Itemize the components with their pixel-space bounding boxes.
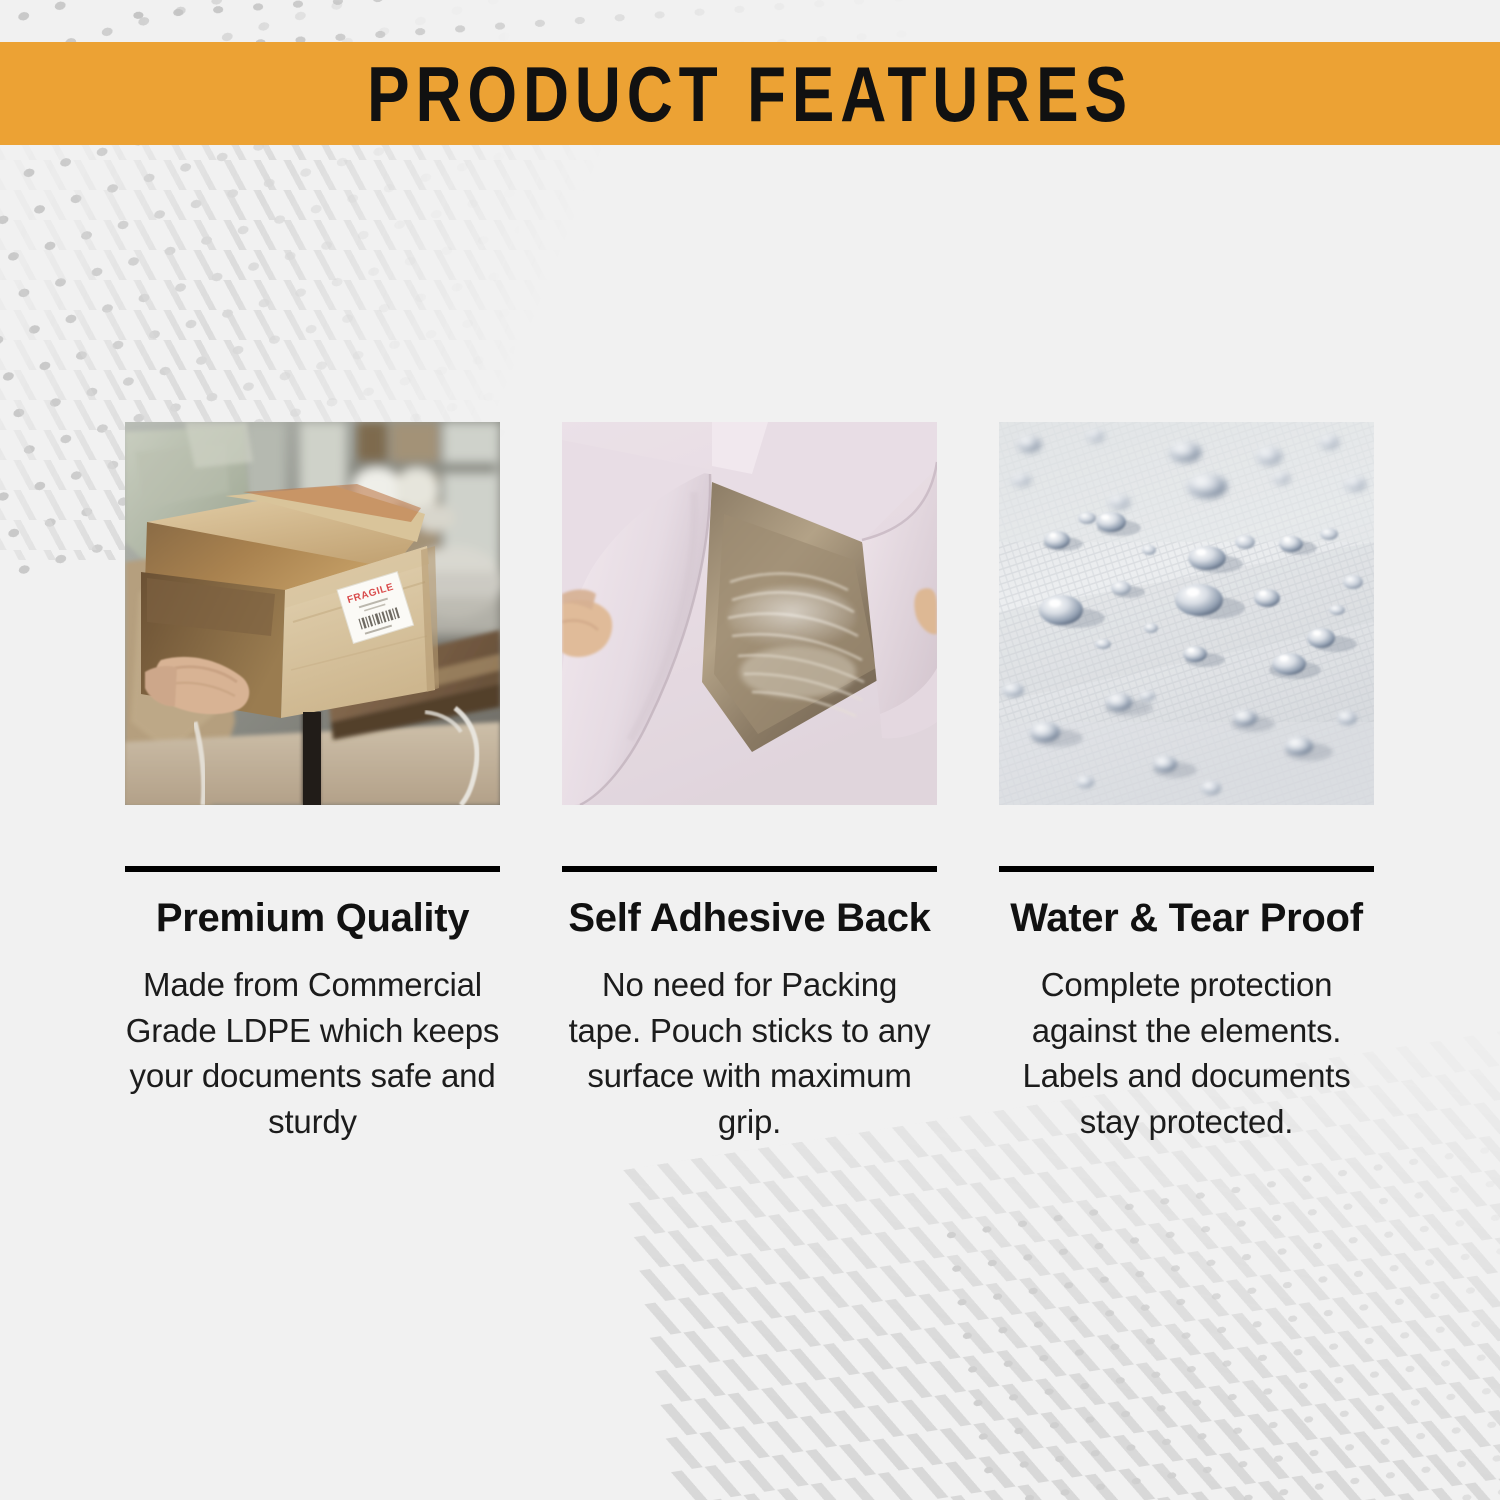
feature-description: Complete protection against the elements… (999, 962, 1374, 1144)
feature-card-water-tear-proof: Water & Tear Proof Complete protection a… (999, 422, 1374, 1144)
feature-divider (999, 866, 1374, 872)
feature-title: Water & Tear Proof (1010, 896, 1362, 940)
feature-divider (125, 866, 500, 872)
feature-description: No need for Packing tape. Pouch sticks t… (562, 962, 937, 1144)
halftone-dots-bottom-right (931, 1124, 1500, 1500)
feature-list: FRAGILE (125, 422, 1376, 1144)
self-adhesive-peel-liner-photo (562, 422, 937, 805)
packing-boxes-fragile-label-photo: FRAGILE (125, 422, 500, 805)
feature-card-premium-quality: FRAGILE (125, 422, 500, 1144)
feature-description: Made from Commercial Grade LDPE which ke… (125, 962, 500, 1144)
water-beading-fabric-photo (999, 422, 1374, 805)
feature-card-self-adhesive-back: Self Adhesive Back No need for Packing t… (562, 422, 937, 1144)
feature-divider (562, 866, 937, 872)
header-banner: PRODUCT FEATURES (0, 42, 1500, 145)
feature-title: Premium Quality (156, 896, 469, 940)
feature-title: Self Adhesive Back (568, 896, 930, 940)
page-title: PRODUCT FEATURES (367, 55, 1133, 133)
